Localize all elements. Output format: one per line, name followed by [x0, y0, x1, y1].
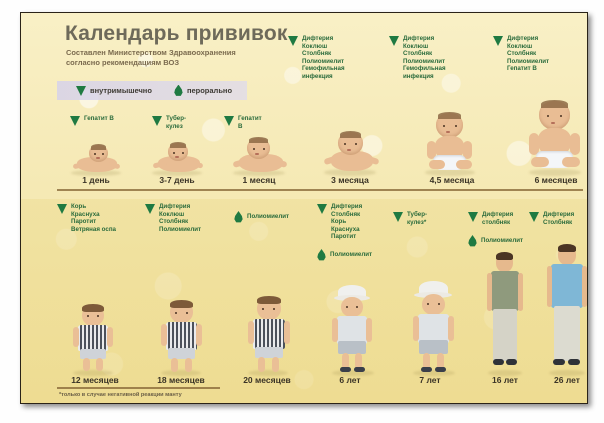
vaccine-note-text: Корь Краснуха Паротит Ветряная оспа	[71, 203, 116, 233]
age-label-26-years: 26 лет	[531, 375, 588, 385]
vaccine-note-16-years-oral: Полиомиелит	[468, 235, 523, 247]
age-label-6-months: 6 месяцев	[513, 175, 588, 185]
legend-label-oral: перорально	[187, 86, 232, 95]
legend-item-intramuscular: внутримышечно	[76, 86, 152, 96]
figure-child-6-years	[323, 285, 381, 375]
triangle-down-icon	[76, 86, 86, 96]
page-subtitle: Составлен Министерством Здравоохранения …	[66, 48, 316, 68]
figure-toddler-18-months	[154, 301, 208, 375]
vaccine-note-6-years-im: Дифтерия Столбняк Корь Краснуха Паротит	[317, 203, 362, 241]
figure-baby-1-month	[228, 137, 290, 175]
figure-baby-4-5-months	[418, 113, 482, 175]
vaccine-note-text: Дифтерия Коклюш Столбняк Полиомиелит Гем…	[302, 35, 345, 81]
vaccine-note-text: Полиомиелит	[481, 237, 523, 245]
vaccine-note-text: Дифтерия Коклюш Столбняк Полиомиелит	[159, 203, 201, 233]
figure-baby-3-months	[318, 131, 382, 175]
triangle-down-icon	[145, 204, 155, 214]
triangle-down-icon	[152, 116, 162, 126]
water-drop-icon	[468, 235, 477, 247]
poster-root: Календарь прививок Составлен Министерств…	[0, 0, 604, 423]
age-label-3-7-day: 3-7 день	[136, 175, 218, 185]
vaccine-note-text: Полиомиелит	[330, 251, 372, 259]
triangle-down-icon	[468, 212, 478, 222]
triangle-down-icon	[493, 36, 503, 46]
vaccine-note-text: Дифтерия Столбняк	[543, 211, 574, 226]
footnote: *только в случае негативной реакции мант…	[59, 392, 182, 398]
figure-toddler-20-months	[240, 297, 296, 375]
triangle-down-icon	[288, 36, 298, 46]
triangle-down-icon	[224, 116, 234, 126]
vaccine-note-20-months: Полиомиелит	[234, 211, 289, 223]
vaccine-note-1-month: Гепатит В	[224, 115, 262, 130]
triangle-down-icon	[389, 36, 399, 46]
page-title: Календарь прививок	[65, 22, 288, 46]
age-label-18-months: 18 месяцев	[141, 375, 221, 385]
vaccine-note-12-months: Корь Краснуха Паротит Ветряная оспа	[57, 203, 116, 233]
vaccine-note-18-months: Дифтерия Коклюш Столбняк Полиомиелит	[145, 203, 201, 233]
age-label-4-5-months: 4,5 месяца	[407, 175, 497, 185]
water-drop-icon	[174, 85, 183, 97]
vaccine-note-7-years: Тубер- кулез*	[393, 211, 427, 226]
water-drop-icon	[317, 249, 326, 261]
triangle-down-icon	[529, 212, 539, 222]
figure-child-7-years	[403, 281, 463, 375]
figure-teen-16-years	[483, 253, 527, 375]
vaccine-note-6-months: Дифтерия Коклюш Столбняк Полиомиелит Геп…	[493, 35, 549, 73]
figure-baby-6-months	[521, 101, 588, 175]
vaccine-note-text: Полиомиелит	[247, 213, 289, 221]
row1-divider	[57, 189, 583, 191]
age-label-6-years: 6 лет	[314, 375, 386, 385]
vaccine-note-text: Дифтерия Столбняк Корь Краснуха Паротит	[331, 203, 362, 241]
triangle-down-icon	[70, 116, 80, 126]
triangle-down-icon	[317, 204, 327, 214]
vaccine-note-26-years: Дифтерия Столбняк	[529, 211, 574, 226]
triangle-down-icon	[393, 212, 403, 222]
figure-newborn-1-day	[67, 143, 125, 175]
vaccine-note-1-day: Гепатит В	[70, 115, 114, 126]
vaccine-note-3-months: Дифтерия Коклюш Столбняк Полиомиелит Гем…	[288, 35, 345, 81]
age-label-12-months: 12 месяцев	[55, 375, 135, 385]
age-label-20-months: 20 месяцев	[227, 375, 307, 385]
vaccine-note-text: Дифтерия столбняк	[482, 211, 513, 226]
water-drop-icon	[234, 211, 243, 223]
vaccine-note-text: Гепатит В	[238, 115, 262, 130]
age-label-3-months: 3 месяца	[309, 175, 391, 185]
legend: внутримышечно перорально	[57, 81, 247, 100]
age-label-7-years: 7 лет	[394, 375, 466, 385]
figure-newborn-3-7-day	[147, 141, 207, 175]
vaccine-note-text: Тубер- кулез	[166, 115, 186, 130]
figure-adult-26-years	[543, 245, 588, 375]
age-label-1-day: 1 день	[57, 175, 135, 185]
vaccine-note-16-years-im: Дифтерия столбняк	[468, 211, 513, 226]
triangle-down-icon	[57, 204, 67, 214]
age-label-1-month: 1 месяц	[218, 175, 300, 185]
vaccine-note-3-7-day: Тубер- кулез	[152, 115, 186, 130]
legend-label-intramuscular: внутримышечно	[90, 86, 152, 95]
legend-item-oral: перорально	[174, 85, 232, 97]
vaccine-note-text: Дифтерия Коклюш Столбняк Полиомиелит Гем…	[403, 35, 446, 81]
vaccine-note-text: Дифтерия Коклюш Столбняк Полиомиелит Геп…	[507, 35, 549, 73]
row2-divider	[57, 387, 220, 389]
vaccine-note-6-years-oral: Полиомиелит	[317, 249, 372, 261]
vaccination-calendar-poster: Календарь прививок Составлен Министерств…	[20, 12, 588, 404]
vaccine-note-text: Тубер- кулез*	[407, 211, 427, 226]
figure-toddler-12-months	[67, 305, 119, 375]
vaccine-note-text: Гепатит В	[84, 115, 114, 123]
vaccine-note-4-5-months: Дифтерия Коклюш Столбняк Полиомиелит Гем…	[389, 35, 446, 81]
